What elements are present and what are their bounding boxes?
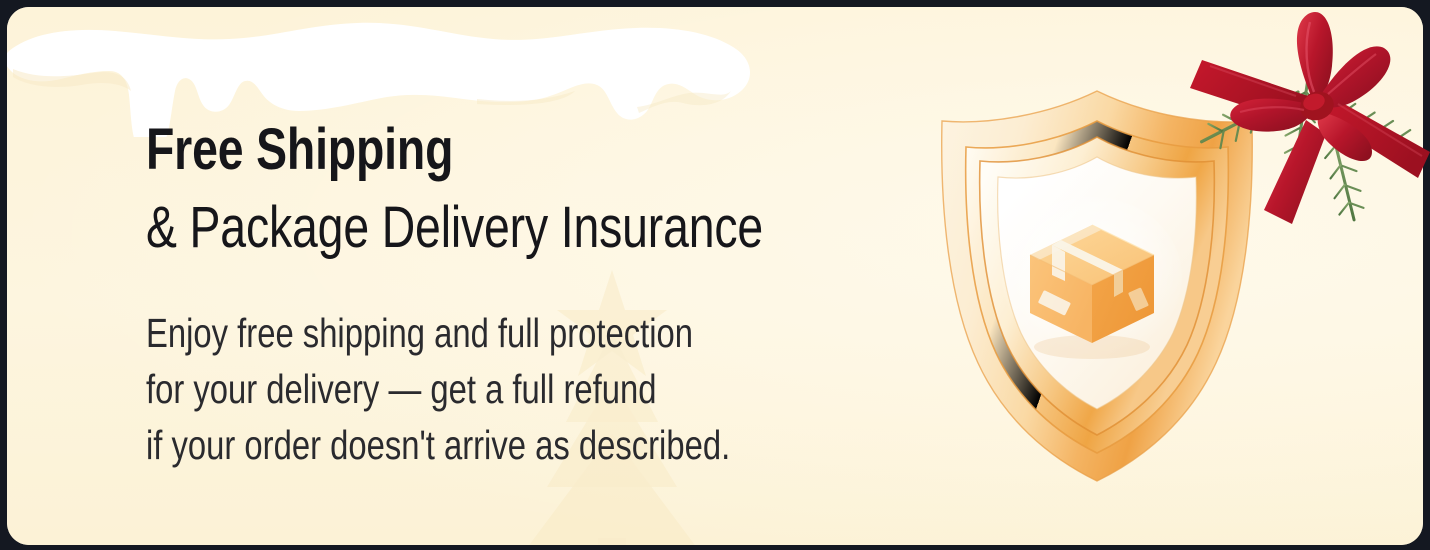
promo-text-column: Free Shipping & Package Delivery Insuran…: [146, 119, 866, 473]
promo-description-line-1: Enjoy free shipping and full protection: [146, 305, 722, 361]
promo-description-line-3: if your order doesn't arrive as describe…: [146, 417, 722, 473]
page-title: Free Shipping: [146, 119, 722, 181]
promo-card: Free Shipping & Package Delivery Insuran…: [7, 7, 1423, 545]
promo-banner: Free Shipping & Package Delivery Insuran…: [0, 0, 1430, 550]
shield-icon: [932, 85, 1282, 485]
promo-description-line-2: for your delivery — get a full refund: [146, 361, 722, 417]
promo-description: Enjoy free shipping and full protection …: [146, 305, 722, 473]
page-subtitle: & Package Delivery Insurance: [146, 197, 722, 259]
